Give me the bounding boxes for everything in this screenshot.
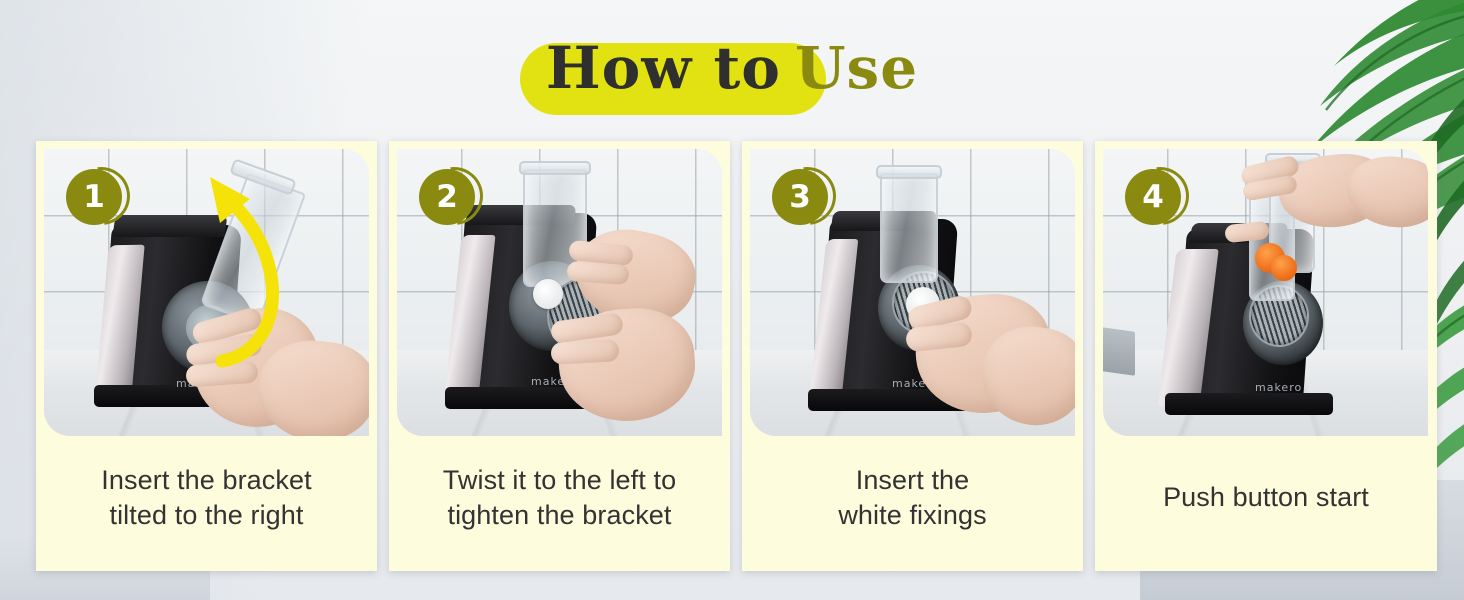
carrot-piece-2 [1271, 255, 1297, 281]
appliance-base [1165, 393, 1333, 415]
food-chute-lip [876, 165, 942, 179]
caption-line-2b: tighten the bracket [447, 500, 671, 530]
appliance-top-cover [112, 215, 227, 237]
step-photo-3: makero 3 [750, 149, 1075, 436]
sink-edge [1103, 326, 1135, 376]
caption-line-1a: Insert the bracket [101, 465, 311, 495]
step-number-1: 1 [66, 169, 122, 225]
white-fixing [533, 279, 563, 309]
food-chute [880, 173, 938, 283]
step-number-2: 2 [419, 169, 475, 225]
step-caption-1: Insert the bracket tilted to the right [44, 436, 369, 571]
page-title: How to Use [0, 26, 1464, 110]
step-caption-2: Twist it to the left to tighten the brac… [397, 436, 722, 571]
step-card-4: makero 4 Push button start [1095, 141, 1437, 571]
step-badge-1: 1 [66, 169, 124, 227]
finger-lower-2 [550, 339, 619, 365]
step-card-3: makero 3 Insert the white fixings [742, 141, 1083, 571]
step-photo-2: makero 2 [397, 149, 722, 436]
title-main-text: How to [546, 39, 781, 97]
step-photo-4: makero 4 [1103, 149, 1428, 436]
caption-line-1b: tilted to the right [109, 500, 303, 530]
steps-container: makero 1 [36, 141, 1438, 571]
step-badge-2: 2 [419, 169, 477, 227]
step-caption-4: Push button start [1103, 436, 1429, 571]
caption-line-4a: Push button start [1163, 482, 1369, 512]
caption-line-2a: Twist it to the left to [443, 465, 676, 495]
step-caption-3: Insert the white fixings [750, 436, 1075, 571]
step-card-1: makero 1 [36, 141, 377, 571]
step-photo-1: makero 1 [44, 149, 369, 436]
step-card-2: makero 2 Twist it to the left to [389, 141, 730, 571]
step-badge-3: 3 [772, 169, 830, 227]
step-number-4: 4 [1125, 169, 1181, 225]
food-chute-lip [519, 161, 591, 175]
step-badge-4: 4 [1125, 169, 1183, 227]
caption-line-3b: white fixings [838, 500, 986, 530]
step-number-3: 3 [772, 169, 828, 225]
title-accent-text: Use [795, 39, 918, 97]
caption-line-3a: Insert the [856, 465, 970, 495]
finger-upper-2 [566, 261, 629, 285]
brand-logo: makero [1255, 381, 1302, 394]
